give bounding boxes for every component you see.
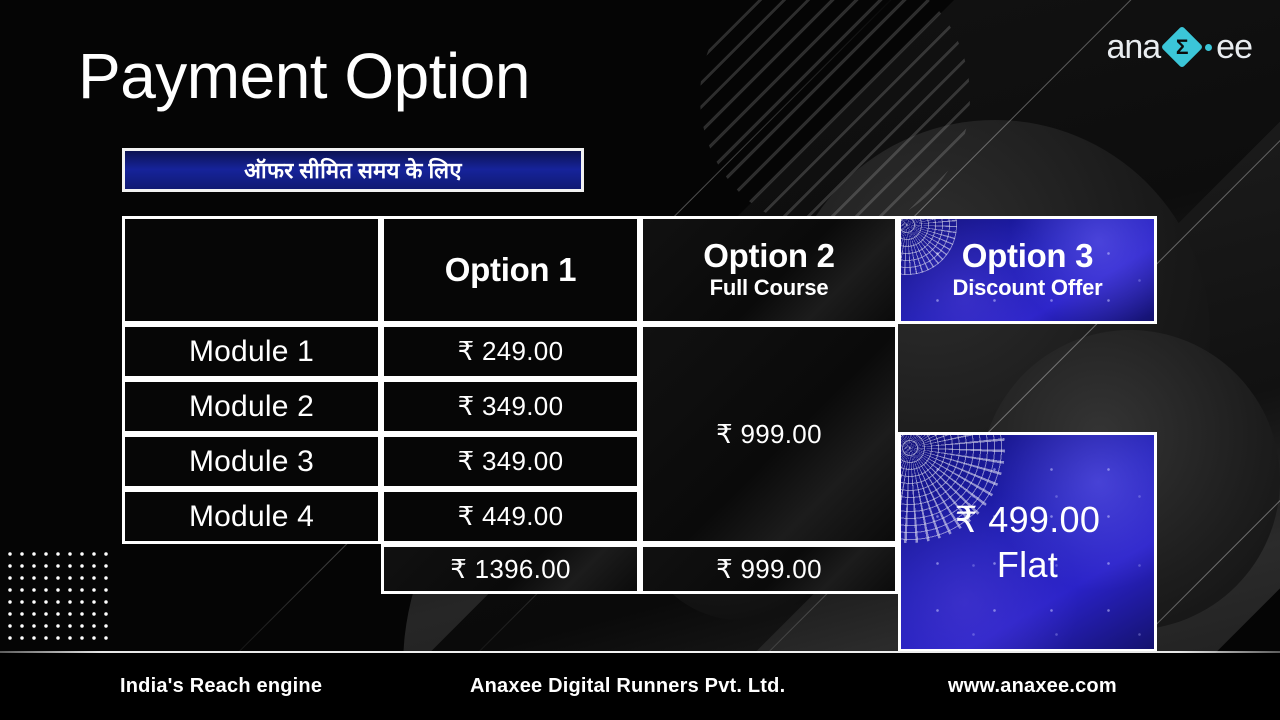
anaxee-logo: ana Σ ee (1106, 26, 1252, 68)
price-value: ₹ 449.00 (458, 501, 564, 532)
column-header-subtitle: Discount Offer (953, 275, 1103, 301)
price-cell: ₹ 449.00 (381, 489, 640, 544)
total-cell-option-1: ₹ 1396.00 (381, 544, 640, 594)
column-header-option-2: Option 2 Full Course (640, 216, 898, 324)
column-header-option-1: Option 1 (381, 216, 640, 324)
price-cell: ₹ 249.00 (381, 324, 640, 379)
column-header-option-3: Option 3 Discount Offer (898, 216, 1157, 324)
merged-price-cell-option-2: ₹ 999.00 (640, 324, 898, 544)
logo-dot-icon (1205, 44, 1212, 51)
column-header-subtitle: Full Course (710, 275, 829, 301)
module-label: Module 3 (189, 445, 314, 479)
price-value: ₹ 249.00 (458, 336, 564, 367)
merged-price-cell-option-3: ₹ 499.00 Flat (898, 432, 1157, 652)
footer: India's Reach engine Anaxee Digital Runn… (0, 653, 1280, 720)
column-header-title: Option 1 (445, 253, 576, 288)
module-label: Module 1 (189, 335, 314, 369)
logo-text-right: ee (1216, 30, 1252, 64)
discount-price-value: ₹ 499.00 (955, 497, 1100, 542)
module-label: Module 2 (189, 390, 314, 424)
table-row: Module 2 (122, 379, 381, 434)
logo-text-left: ana (1106, 30, 1160, 64)
page-title: Payment Option (78, 44, 530, 108)
price-value: ₹ 999.00 (716, 419, 822, 450)
module-label: Module 4 (189, 500, 314, 534)
dot-grid-decoration (0, 548, 112, 648)
price-cell: ₹ 349.00 (381, 434, 640, 489)
footer-company-name: Anaxee Digital Runners Pvt. Ltd. (470, 675, 785, 698)
offer-banner-text: ऑफर सीमित समय के लिए (244, 155, 462, 185)
table-row: Module 3 (122, 434, 381, 489)
price-value: ₹ 349.00 (458, 391, 564, 422)
total-value: ₹ 1396.00 (450, 554, 570, 585)
table-row: Module 1 (122, 324, 381, 379)
table-column-option-3: Option 3 Discount Offer ₹ 499.00 Flat ₹ … (898, 216, 1157, 594)
price-cell: ₹ 349.00 (381, 379, 640, 434)
column-header-title: Option 3 (962, 239, 1093, 274)
footer-website[interactable]: www.anaxee.com (948, 675, 1117, 698)
logo-diamond-icon: Σ (1161, 26, 1203, 68)
price-value: ₹ 349.00 (458, 446, 564, 477)
column-header-title: Option 2 (703, 239, 834, 274)
total-value: ₹ 999.00 (716, 554, 822, 585)
table-row: Module 4 (122, 489, 381, 544)
pricing-table: Module 1 Module 2 Module 3 Module 4 Opti… (122, 216, 1157, 594)
limited-time-offer-banner: ऑफर सीमित समय के लिए (122, 148, 584, 192)
mandala-icon (898, 216, 957, 275)
table-header-empty-cell (122, 216, 381, 324)
total-cell-option-2: ₹ 999.00 (640, 544, 898, 594)
discount-price-note: Flat (997, 542, 1058, 587)
footer-tagline: India's Reach engine (120, 675, 322, 698)
logo-sigma-glyph: Σ (1161, 26, 1203, 68)
